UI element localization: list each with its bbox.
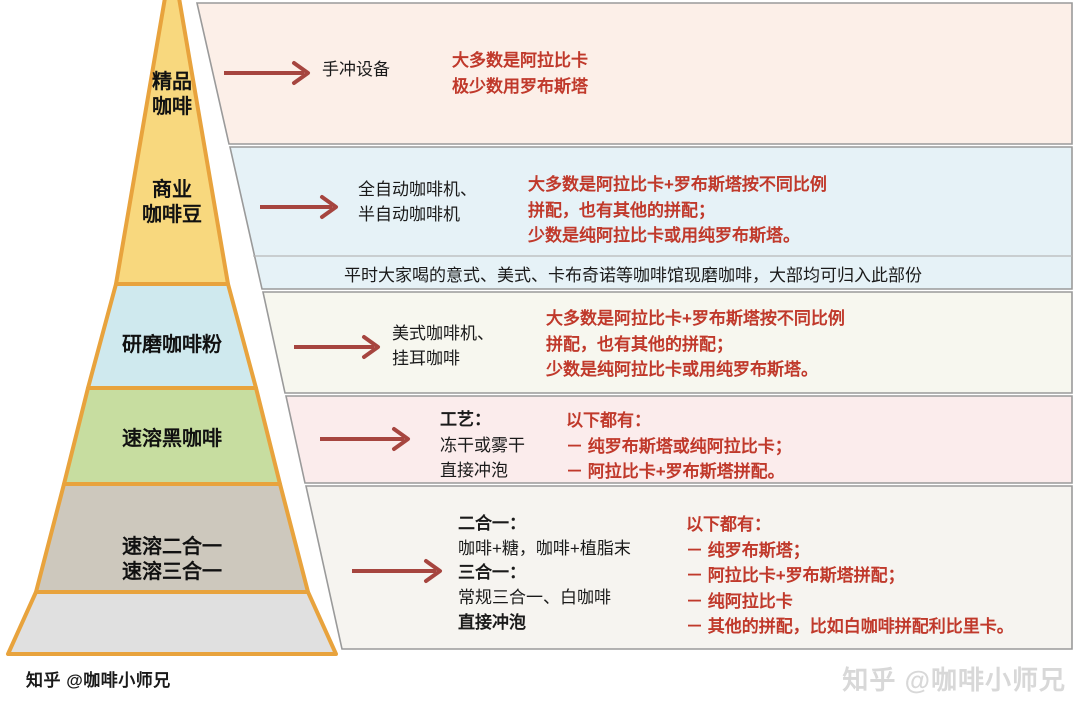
pyramid-tier-1-label: 精品 咖啡 — [112, 70, 232, 120]
author-credit: 知乎 @咖啡小师兄 — [26, 666, 171, 691]
row-4-craft-group: 工艺： 冻干或雾干 直接冲泡 — [440, 408, 525, 484]
pyramid-tier-4-label: 速溶黑咖啡 — [84, 427, 260, 452]
row-1-bean-note: 大多数是阿拉比卡 极少数用罗布斯塔 — [452, 48, 588, 99]
row-2-extra-group: 平时大家喝的意式、美式、卡布奇诺等咖啡馆现磨咖啡，大部均可归入此部份 — [344, 264, 922, 288]
row-5-bean-group: 以下都有： － 纯罗布斯塔； － 阿拉比卡+罗布斯塔拼配； － 纯阿拉比卡 － … — [686, 512, 1014, 640]
row-3-bean-note: 大多数是阿拉比卡+罗布斯塔按不同比例 拼配，也有其他的拼配； 少数是纯阿拉比卡或… — [546, 306, 845, 383]
pyramid-tier-1-shape — [116, 0, 228, 284]
pyramid-tier-5-shape — [8, 592, 336, 654]
row-5-type-group: 二合一： 咖啡+糖，咖啡+植脂末 三合一： 常规三合一、白咖啡 直接冲泡 — [458, 512, 631, 635]
pyramid-tier-2-label: 商业 咖啡豆 — [112, 178, 232, 228]
row-5-bean-items: － 纯罗布斯塔； － 阿拉比卡+罗布斯塔拼配； － 纯阿拉比卡 － 其他的拼配，… — [686, 538, 1014, 640]
row-4-bean-head: 以下都有： — [566, 408, 792, 434]
row-2-bean-group: 大多数是阿拉比卡+罗布斯塔按不同比例 拼配，也有其他的拼配； 少数是纯阿拉比卡或… — [528, 172, 827, 249]
row-5-three-title: 三合一： — [458, 561, 631, 586]
row-4-craft-title: 工艺： — [440, 408, 525, 433]
row-5-two-title: 二合一： — [458, 512, 631, 537]
row-4-bean-items: － 纯罗布斯塔或纯阿拉比卡； － 阿拉比卡+罗布斯塔拼配。 — [566, 434, 792, 485]
row-3-bean-group: 大多数是阿拉比卡+罗布斯塔按不同比例 拼配，也有其他的拼配； 少数是纯阿拉比卡或… — [546, 306, 845, 383]
row-5-bean-head: 以下都有： — [686, 512, 1014, 538]
row-2-extra-note: 平时大家喝的意式、美式、卡布奇诺等咖啡馆现磨咖啡，大部均可归入此部份 — [344, 264, 922, 288]
row-2-bean-note: 大多数是阿拉比卡+罗布斯塔按不同比例 拼配，也有其他的拼配； 少数是纯阿拉比卡或… — [528, 172, 827, 249]
row-5-three-desc: 常规三合一、白咖啡 — [458, 586, 631, 611]
row-1-bean-group: 大多数是阿拉比卡 极少数用罗布斯塔 — [452, 48, 588, 99]
row-4-bean-group: 以下都有： － 纯罗布斯塔或纯阿拉比卡； － 阿拉比卡+罗布斯塔拼配。 — [566, 408, 792, 485]
row-4-craft-lines: 冻干或雾干 直接冲泡 — [440, 433, 525, 484]
pyramid-tier-5-label: 速溶二合一 速溶三合一 — [72, 535, 272, 585]
row-5-two-desc: 咖啡+糖，咖啡+植脂末 — [458, 537, 631, 562]
watermark: 知乎 @咖啡小师兄 — [842, 660, 1066, 697]
pyramid-tier-3-label: 研磨咖啡粉 — [84, 333, 260, 358]
row-5-brew: 直接冲泡 — [458, 611, 631, 636]
